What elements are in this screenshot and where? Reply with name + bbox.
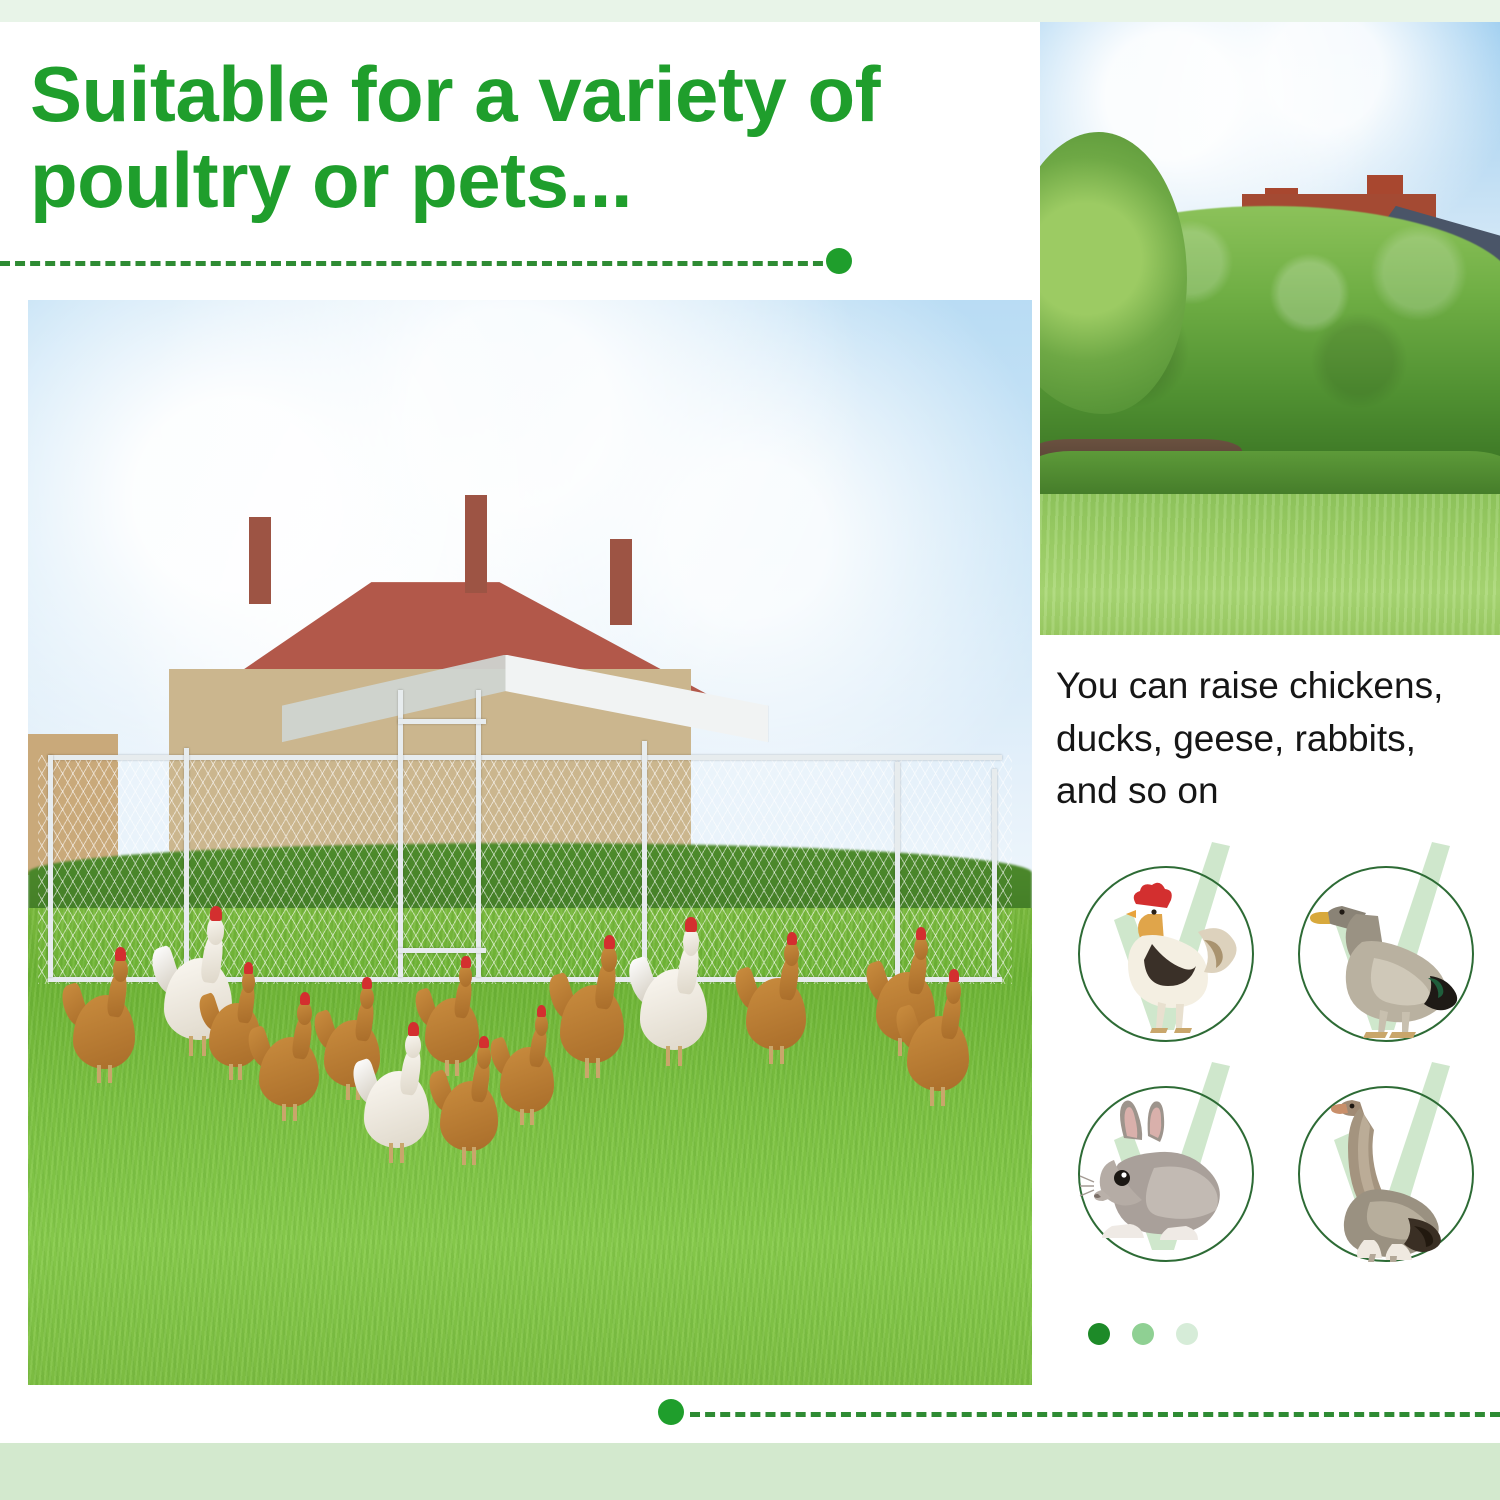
- frame-post: [476, 690, 481, 976]
- headline-line-2: poultry or pets...: [30, 138, 990, 224]
- lawn-scene-photo: [1040, 22, 1500, 635]
- headline-divider-dashed-line: [0, 261, 838, 266]
- chimney: [610, 539, 632, 626]
- top-accent-band: [0, 0, 1500, 22]
- chicken: [500, 1032, 554, 1123]
- frame-post: [398, 690, 403, 976]
- chimney: [465, 495, 487, 593]
- rabbit-icon: [1078, 1086, 1254, 1262]
- chicken-icon: [1078, 866, 1254, 1042]
- chicken: [259, 1022, 319, 1120]
- chicken: [440, 1065, 498, 1163]
- frame-post: [642, 741, 647, 977]
- carousel-pagination[interactable]: [1088, 1323, 1208, 1347]
- chicken: [640, 951, 706, 1064]
- main-product-photo: [28, 300, 1032, 1385]
- frame-post: [992, 769, 997, 977]
- chicken: [364, 1054, 428, 1160]
- goose-icon: [1298, 1086, 1474, 1262]
- chicken: [560, 967, 624, 1076]
- footer-divider-start-dot: [658, 1399, 684, 1425]
- page-headline: Suitable for a variety of poultry or pet…: [30, 52, 990, 224]
- suitable-animals-grid: [1058, 846, 1488, 1286]
- chimney: [249, 517, 271, 604]
- chicken: [907, 1000, 969, 1104]
- chicken: [746, 962, 806, 1062]
- door-sill: [398, 948, 486, 953]
- animal-icon-chicken[interactable]: [1066, 852, 1266, 1052]
- headline-divider-end-dot: [826, 248, 852, 274]
- footer-divider-dashed-line: [690, 1412, 1500, 1417]
- door-header: [398, 719, 486, 724]
- chicken: [425, 984, 479, 1075]
- frame-top-rail: [48, 755, 1002, 760]
- animal-icon-duck[interactable]: [1286, 852, 1486, 1052]
- pagination-dot-1[interactable]: [1088, 1323, 1110, 1345]
- bottom-accent-band: [0, 1443, 1500, 1500]
- duck-icon: [1298, 866, 1474, 1042]
- side-description-text: You can raise chickens, ducks, geese, ra…: [1056, 660, 1486, 818]
- headline-line-1: Suitable for a variety of: [30, 50, 880, 138]
- chicken: [73, 978, 135, 1081]
- lawn: [1040, 494, 1500, 635]
- frame-post: [895, 762, 900, 977]
- frame-post: [48, 755, 53, 977]
- animal-icon-rabbit[interactable]: [1066, 1072, 1266, 1272]
- pagination-dot-3[interactable]: [1176, 1323, 1198, 1345]
- pagination-dot-2[interactable]: [1132, 1323, 1154, 1345]
- animal-icon-goose[interactable]: [1286, 1072, 1486, 1272]
